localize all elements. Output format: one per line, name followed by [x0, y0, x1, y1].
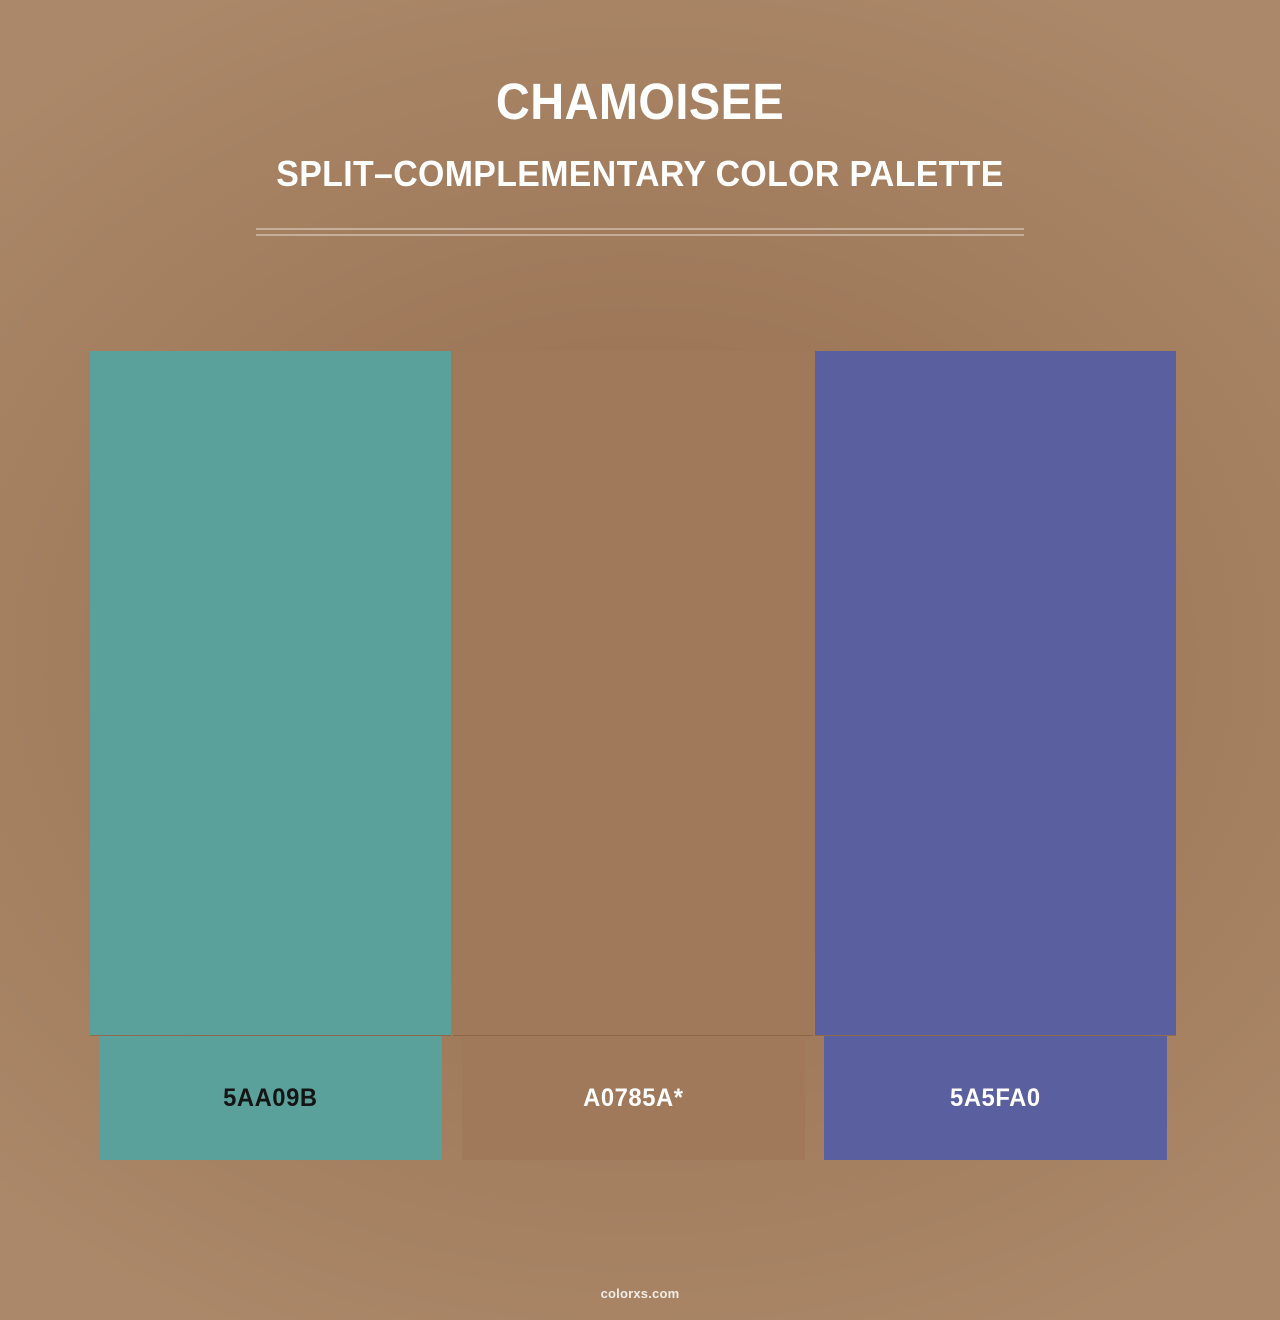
palette-page: CHAMOISEE SPLIT–COMPLEMENTARY COLOR PALE… — [0, 0, 1280, 1320]
swatch-hex-label-1: 5AA09B — [99, 1036, 442, 1160]
footer-site-label: colorxs.com — [0, 1286, 1280, 1301]
swatch-color-block-3[interactable] — [815, 351, 1176, 1035]
swatch-hex-label-3: 5A5FA0 — [824, 1036, 1167, 1160]
swatch-hex-label-2: A0785A* — [462, 1036, 805, 1160]
divider-rule-top — [256, 228, 1024, 230]
page-subtitle: SPLIT–COMPLEMENTARY COLOR PALETTE — [38, 132, 1241, 196]
swatch-column-2[interactable]: A0785A* — [453, 351, 814, 1160]
header: CHAMOISEE SPLIT–COMPLEMENTARY COLOR PALE… — [0, 0, 1280, 196]
divider-rule-bottom — [256, 234, 1024, 236]
swatch-color-block-1[interactable] — [90, 351, 451, 1035]
header-divider — [256, 228, 1024, 237]
swatch-column-3[interactable]: 5A5FA0 — [815, 351, 1176, 1160]
page-title: CHAMOISEE — [51, 0, 1229, 132]
color-palette: 5AA09B A0785A* 5A5FA0 — [90, 351, 1176, 1160]
swatch-color-block-2[interactable] — [453, 351, 814, 1035]
swatch-column-1[interactable]: 5AA09B — [90, 351, 451, 1160]
